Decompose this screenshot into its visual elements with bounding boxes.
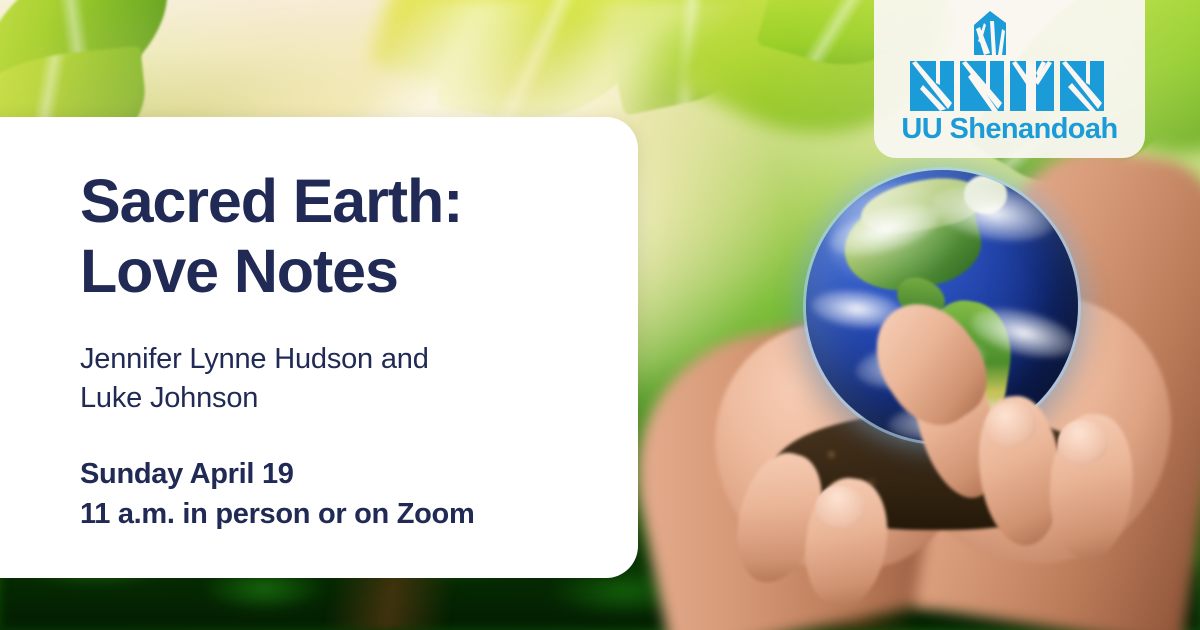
page-title: Sacred Earth: Love Notes bbox=[80, 167, 598, 306]
organization-logo-card: UU Shenandoah bbox=[874, 0, 1145, 158]
speakers-text: Jennifer Lynne Hudson and Luke Johnson bbox=[80, 340, 598, 417]
globe-highlight bbox=[828, 184, 969, 293]
event-details-card: Sacred Earth: Love Notes Jennifer Lynne … bbox=[0, 117, 638, 578]
event-details-content: Sacred Earth: Love Notes Jennifer Lynne … bbox=[80, 167, 598, 534]
datetime-text: Sunday April 19 11 a.m. in person or on … bbox=[80, 455, 598, 534]
organization-name: UU Shenandoah bbox=[901, 115, 1117, 144]
uu-shenandoah-tree-blocks-logo bbox=[906, 11, 1114, 111]
event-poster: Sacred Earth: Love Notes Jennifer Lynne … bbox=[0, 0, 1200, 630]
